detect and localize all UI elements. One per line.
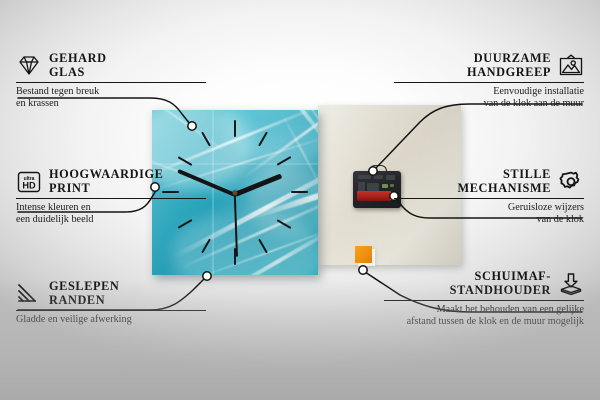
product-infographic: GEHARDGLAS Bestand tegen breuken krassen…: [0, 0, 600, 400]
feature-stille-mechanisme[interactable]: STILLEMECHANISME Geruisloze wijzersvan d…: [394, 168, 584, 225]
feature-head: STILLEMECHANISME: [394, 168, 584, 195]
feature-head: DUURZAMEHANDGREEP: [394, 52, 584, 79]
feature-desc: Eenvoudige installatievan de klok aan de…: [394, 86, 584, 109]
feature-rule: [394, 82, 584, 83]
feature-title: GEHARDGLAS: [49, 52, 107, 79]
feature-rule: [16, 82, 206, 83]
feature-desc: Bestand tegen breuken krassen: [16, 86, 206, 109]
diamond-icon: [16, 54, 42, 78]
feature-hoogwaardige-print[interactable]: ultra HD HOOGWAARDIGEPRINT Intense kleur…: [16, 168, 206, 225]
feature-title: DUURZAMEHANDGREEP: [467, 52, 551, 79]
mechanism-battery: [357, 191, 391, 201]
feature-title: SCHUIMAF-STANDHOUDER: [450, 270, 551, 297]
feature-rule: [16, 198, 206, 199]
feature-desc: Maakt het behouden van een gelijkeafstan…: [384, 304, 584, 327]
feature-geslepen-randen[interactable]: GESLEPENRANDEN Gladde en veilige afwerki…: [16, 280, 206, 326]
feature-desc: Intense kleuren eneen duidelijk beeld: [16, 202, 206, 225]
feature-head: GESLEPENRANDEN: [16, 280, 206, 307]
bevelled-edges-icon: [16, 282, 42, 306]
clock-hands-hub: [233, 190, 238, 195]
clock-tick-12: [234, 120, 236, 137]
svg-text:HD: HD: [22, 180, 36, 190]
gear-icon: [558, 170, 584, 194]
feature-rule: [16, 310, 206, 311]
feature-desc: Gladde en veilige afwerking: [16, 314, 206, 326]
feature-gehard-glas[interactable]: GEHARDGLAS Bestand tegen breuken krassen: [16, 52, 206, 109]
feature-rule: [384, 300, 584, 301]
feature-head: SCHUIMAF-STANDHOUDER: [384, 270, 584, 297]
feature-title: STILLEMECHANISME: [458, 168, 551, 195]
ultra-hd-icon: ultra HD: [16, 170, 42, 194]
picture-frame-icon: [558, 54, 584, 78]
feature-desc: Geruisloze wijzersvan de klok: [394, 202, 584, 225]
feature-title: HOOGWAARDIGEPRINT: [49, 168, 163, 195]
spacer-arrow-icon: [558, 272, 584, 296]
feature-rule: [394, 198, 584, 199]
feature-title: GESLEPENRANDEN: [49, 280, 119, 307]
foam-spacer: [355, 246, 372, 263]
feature-head: ultra HD HOOGWAARDIGEPRINT: [16, 168, 206, 195]
feature-schuimafstandhouder[interactable]: SCHUIMAF-STANDHOUDER Maakt het behouden …: [384, 270, 584, 327]
feature-head: GEHARDGLAS: [16, 52, 206, 79]
feature-duurzame-handgreep[interactable]: DUURZAMEHANDGREEP Eenvoudige installatie…: [394, 52, 584, 109]
